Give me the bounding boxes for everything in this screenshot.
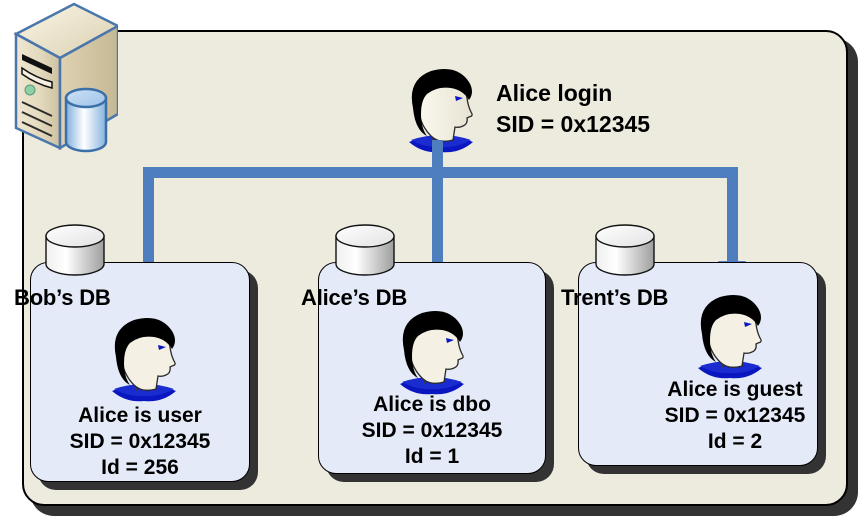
db-1-database-cylinder-icon <box>42 222 108 278</box>
server-tower-icon <box>2 2 118 154</box>
connector-root-stem <box>432 140 443 170</box>
db-3-sid-line: SID = 0x12345 <box>620 403 850 429</box>
db-1-sid-line: SID = 0x12345 <box>30 429 250 455</box>
server-database-icon <box>66 89 106 151</box>
login-sid-line: SID = 0x12345 <box>496 109 650 140</box>
db-1-role-line: Alice is user <box>30 403 250 429</box>
db-box-1-text: Alice is user SID = 0x12345 Id = 256 <box>30 403 250 481</box>
login-name-line: Alice login <box>496 78 650 109</box>
db-box-1-label: Bob’s DB <box>14 285 111 311</box>
db-2-database-cylinder-icon <box>332 222 398 278</box>
db-3-person-profile-icon <box>686 292 774 384</box>
db-2-id-line: Id = 1 <box>318 444 546 470</box>
db-2-sid-line: SID = 0x12345 <box>318 418 546 444</box>
db-box-3-text: Alice is guest SID = 0x12345 Id = 2 <box>620 377 850 455</box>
db-3-role-line: Alice is guest <box>620 377 850 403</box>
db-box-2-text: Alice is dbo SID = 0x12345 Id = 1 <box>318 392 546 470</box>
db-2-person-profile-icon <box>388 308 476 400</box>
db-1-id-line: Id = 256 <box>30 455 250 481</box>
db-3-id-line: Id = 2 <box>620 429 850 455</box>
diagram-canvas: Alice login SID = 0x12345 <box>0 0 864 529</box>
db-1-person-profile-icon <box>100 315 188 407</box>
db-box-3-label: Trent’s DB <box>561 285 668 311</box>
connector-drop-db3 <box>727 167 738 263</box>
login-label: Alice login SID = 0x12345 <box>496 78 650 140</box>
db-2-role-line: Alice is dbo <box>318 392 546 418</box>
db-3-database-cylinder-icon <box>592 222 658 278</box>
